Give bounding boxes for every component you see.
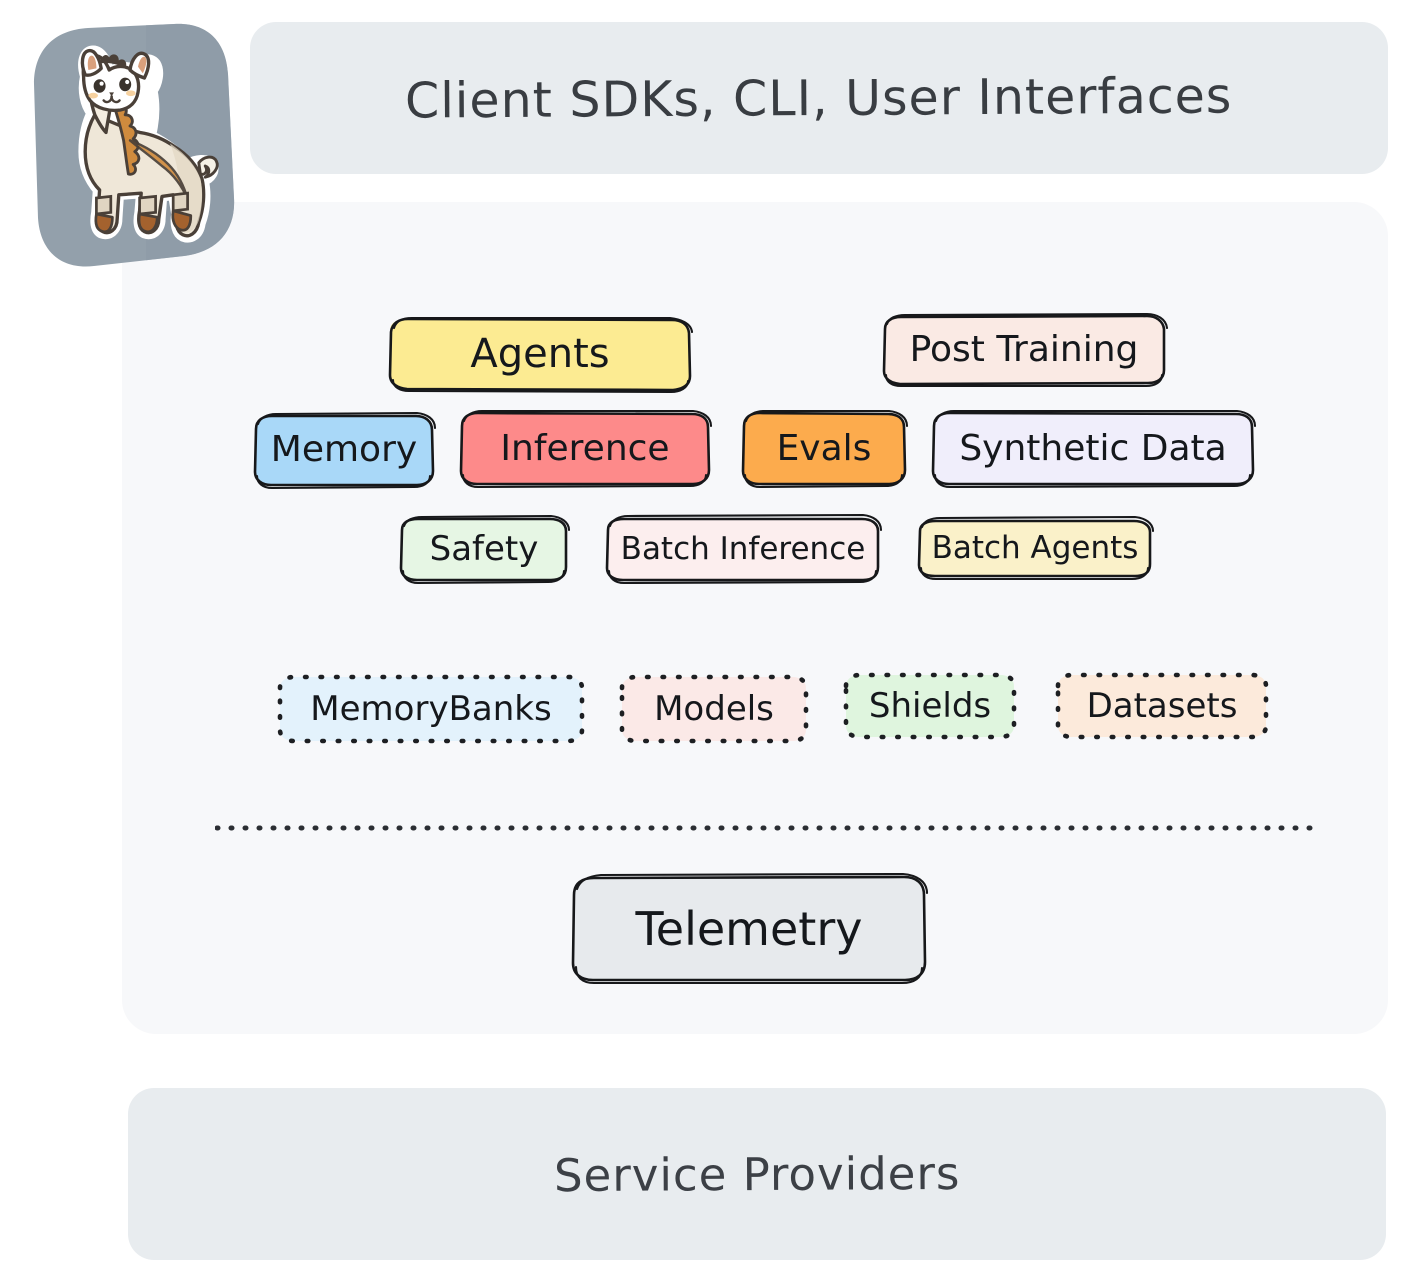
api-box-inference-label: Inference	[500, 431, 669, 467]
api-box-agents[interactable]: Agents	[386, 318, 694, 390]
api-box-evals-label: Evals	[777, 431, 872, 467]
api-box-batch-inference-label: Batch Inference	[621, 534, 866, 565]
api-box-evals[interactable]: Evals	[740, 412, 908, 486]
api-box-post-training-label: Post Training	[910, 332, 1139, 368]
api-box-safety[interactable]: Safety	[398, 518, 570, 580]
api-box-batch-agents[interactable]: Batch Agents	[916, 520, 1154, 576]
api-box-memory[interactable]: Memory	[252, 414, 436, 486]
api-box-synthetic-data[interactable]: Synthetic Data	[930, 412, 1256, 486]
service-providers-panel: Service Providers	[128, 1088, 1386, 1260]
api-box-batch-inference[interactable]: Batch Inference	[604, 518, 882, 580]
resource-box-datasets[interactable]: Datasets	[1056, 674, 1268, 738]
resource-box-memorybanks-label: MemoryBanks	[310, 692, 551, 726]
resource-box-shields[interactable]: Shields	[844, 674, 1016, 738]
llama-icon	[26, 22, 236, 270]
api-box-memory-label: Memory	[271, 432, 417, 468]
api-box-inference[interactable]: Inference	[458, 412, 712, 486]
diagram-canvas: Client SDKs, CLI, User Interfaces	[0, 0, 1410, 1268]
client-layer-title: Client SDKs, CLI, User Interfaces	[405, 67, 1233, 129]
api-box-synthetic-data-label: Synthetic Data	[959, 431, 1226, 467]
resource-box-datasets-label: Datasets	[1087, 689, 1238, 723]
resource-box-models[interactable]: Models	[620, 676, 808, 742]
resource-box-models-label: Models	[654, 692, 774, 726]
service-providers-title: Service Providers	[554, 1146, 961, 1201]
telemetry-box[interactable]: Telemetry	[570, 874, 928, 984]
resource-box-memorybanks[interactable]: MemoryBanks	[278, 676, 584, 742]
telemetry-box-label: Telemetry	[636, 906, 863, 952]
api-box-safety-label: Safety	[430, 532, 539, 566]
client-layer-panel: Client SDKs, CLI, User Interfaces	[250, 22, 1388, 174]
api-box-post-training[interactable]: Post Training	[880, 316, 1168, 384]
section-divider	[215, 816, 1313, 822]
resource-box-shields-label: Shields	[869, 689, 991, 723]
api-box-agents-label: Agents	[470, 334, 609, 374]
api-box-batch-agents-label: Batch Agents	[932, 533, 1139, 564]
